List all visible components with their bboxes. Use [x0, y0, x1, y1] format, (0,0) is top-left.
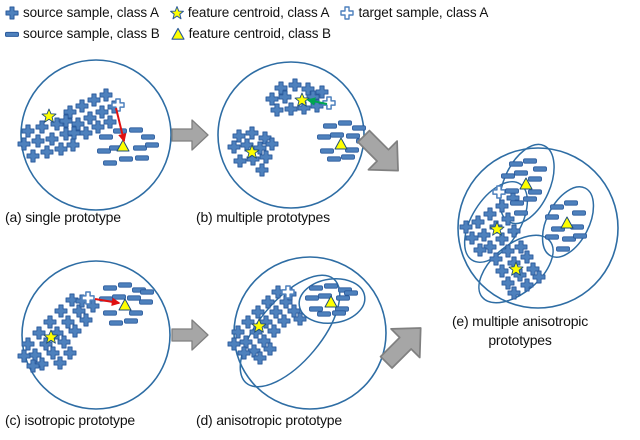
- panel-e-caption: (e) multiple anisotropic prototypes: [420, 312, 620, 350]
- panel-a-centroid-class-a: [42, 109, 56, 122]
- panel-e-caption-line2: prototypes: [488, 332, 551, 348]
- panel-c-caption: (c) isotropic prototype: [5, 412, 135, 428]
- panel-e-caption-line1: (e) multiple anisotropic: [452, 313, 588, 329]
- panel-c: [18, 261, 170, 409]
- panel-a-class-a-left-cluster: [18, 118, 79, 162]
- panel-d-class-a-cluster: [228, 286, 306, 364]
- panel-e: [452, 136, 618, 315]
- panel-a: [18, 60, 171, 210]
- panel-d: [223, 257, 386, 409]
- panel-b-class-a-upper-cluster: [266, 79, 328, 116]
- panel-a-assignment-arrow: [116, 108, 124, 141]
- panel-b-caption: (b) multiple prototypes: [196, 209, 330, 225]
- panel-d-caption: (d) anisotropic prototype: [196, 412, 342, 428]
- panel-a-caption: (a) single prototype: [5, 209, 121, 225]
- block-arrow-b-to-e: [349, 122, 412, 185]
- panel-c-class-a-cluster: [18, 294, 99, 372]
- panel-a-class-a-upper-cluster: [60, 89, 120, 139]
- block-arrow-a-to-b: [172, 120, 208, 150]
- panel-e-centroid-b2: [561, 217, 573, 228]
- panel-a-class-b-cluster: [98, 128, 159, 165]
- panel-b-centroid-class-b: [335, 138, 347, 149]
- block-arrow-c-to-d: [172, 320, 208, 350]
- panel-e-boundary-circle: [458, 148, 618, 308]
- panel-b: [218, 62, 370, 208]
